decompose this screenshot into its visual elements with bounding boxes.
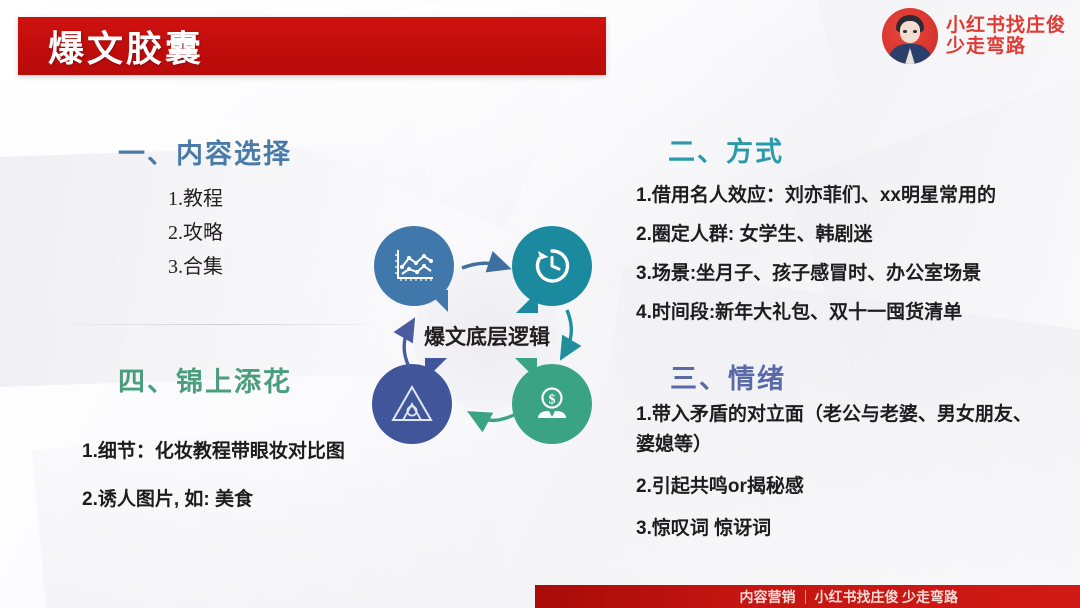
list-item: 2.圈定人群: 女学生、韩剧迷: [636, 215, 1036, 254]
triangle-fractal-icon: [390, 384, 434, 424]
section-list-2: 1.借用名人效应：刘亦菲们、xx明星常用的 2.圈定人群: 女学生、韩剧迷 3.…: [636, 176, 1036, 332]
list-item: 3.场景:坐月子、孩子感冒时、办公室场景: [636, 254, 1036, 293]
section-divider: [72, 324, 372, 325]
diagram-node-bottom-left[interactable]: [372, 364, 452, 444]
clock-history-icon: [532, 246, 572, 286]
list-item: 2.诱人图片, 如: 美食: [82, 476, 412, 524]
list-item: 2.引起共鸣or揭秘感: [636, 472, 1034, 502]
slide-canvas: 爆文胶囊 小红书找庄俊 少走弯路 一、内容选择 1.教程 2.攻略 3.合集 二…: [0, 0, 1080, 608]
line-chart-icon: [393, 247, 435, 285]
footer-bar: 内容营销 小红书找庄俊 少走弯路: [535, 585, 1080, 608]
money-person-icon: $: [532, 384, 572, 424]
avatar-eye-right: [913, 30, 917, 33]
footer-separator: [805, 590, 806, 604]
brand-line-2: 少走弯路: [946, 36, 1066, 57]
brand-line-1: 小红书找庄俊: [946, 15, 1066, 36]
title-banner: 爆文胶囊: [18, 17, 606, 75]
list-item: 1.教程: [168, 182, 223, 216]
svg-text:$: $: [549, 393, 556, 408]
page-title: 爆文胶囊: [48, 20, 204, 72]
list-item: 1.带入矛盾的对立面（老公与老婆、男女朋友、婆媳等）: [636, 400, 1034, 460]
section-heading-3: 三、情绪: [670, 357, 786, 396]
list-item: 1.借用名人效应：刘亦菲们、xx明星常用的: [636, 176, 1036, 215]
diagram-center-label: 爆文底层逻辑: [424, 321, 550, 351]
footer-right-text: 小红书找庄俊 少走弯路: [815, 587, 959, 607]
arrow-right: [565, 310, 571, 352]
diagram-node-bottom-right[interactable]: $: [512, 364, 592, 444]
arrow-bottom: [476, 415, 514, 420]
person-avatar-icon: [882, 8, 938, 64]
list-item: 3.惊叹词 惊讶词: [636, 514, 1034, 544]
diagram-node-top-right[interactable]: [512, 226, 592, 306]
section-heading-1: 一、内容选择: [118, 132, 292, 171]
section-list-3: 1.带入矛盾的对立面（老公与老婆、男女朋友、婆媳等） 2.引起共鸣or揭秘感 3…: [636, 400, 1034, 556]
list-item: 4.时间段:新年大礼包、双十一囤货清单: [636, 293, 1036, 332]
avatar-eye-left: [903, 30, 907, 33]
list-item: 3.合集: [168, 250, 223, 284]
brand-text: 小红书找庄俊 少走弯路: [946, 15, 1066, 58]
section-list-1: 1.教程 2.攻略 3.合集: [168, 182, 223, 284]
arrow-left: [404, 326, 410, 367]
cycle-diagram: $ 爆文底层逻辑: [362, 212, 612, 460]
diagram-node-top-left[interactable]: [374, 226, 454, 306]
list-item: 2.攻略: [168, 216, 223, 250]
section-heading-2: 二、方式: [668, 130, 784, 169]
brand-logo: 小红书找庄俊 少走弯路: [882, 8, 1066, 64]
footer-content: 内容营销 小红书找庄俊 少走弯路: [740, 587, 959, 607]
section-heading-4: 四、锦上添花: [118, 360, 292, 399]
footer-left-text: 内容营销: [740, 587, 796, 607]
